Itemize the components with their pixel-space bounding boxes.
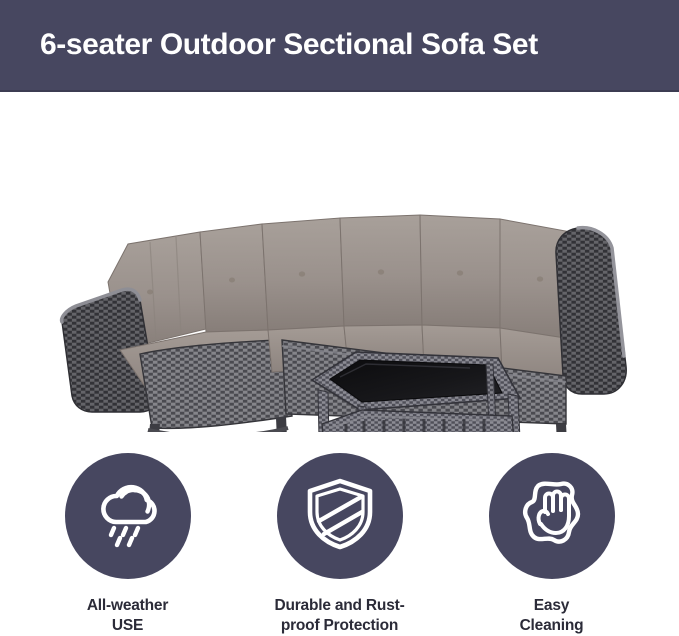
product-illustration — [0, 94, 679, 432]
feature-durable-rustproof: Durable and Rust- proof Protection — [234, 440, 446, 636]
features-row: All-weather USE Durable and Rust- proof … — [0, 440, 679, 632]
feature-caption: Easy Cleaning — [520, 596, 584, 636]
feature-icon-circle — [489, 453, 615, 579]
page-title: 6-seater Outdoor Sectional Sofa Set — [40, 30, 538, 60]
feature-caption: All-weather USE — [87, 596, 168, 636]
shield-icon — [304, 476, 376, 557]
coffee-table — [312, 352, 522, 432]
rain-cloud-icon — [90, 478, 166, 555]
header-banner: 6-seater Outdoor Sectional Sofa Set — [0, 0, 679, 92]
cleaning-hand-icon — [514, 476, 590, 557]
feature-icon-circle — [65, 453, 191, 579]
feature-easy-cleaning: Easy Cleaning — [446, 440, 658, 636]
feature-all-weather: All-weather USE — [22, 440, 234, 636]
product-image — [0, 94, 679, 432]
feature-icon-circle — [277, 453, 403, 579]
feature-caption: Durable and Rust- proof Protection — [274, 596, 404, 636]
